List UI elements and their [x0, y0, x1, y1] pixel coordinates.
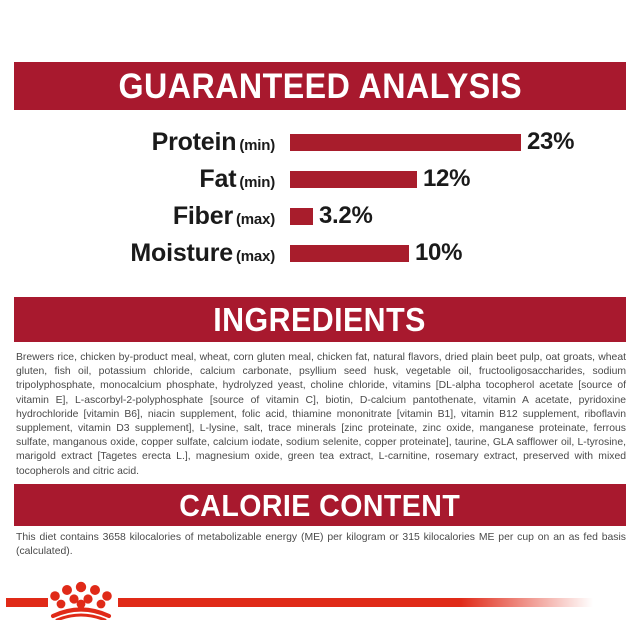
- analysis-row-moisture: Moisture(max) 10%: [0, 235, 640, 271]
- footer-rule-right: [118, 598, 593, 607]
- analysis-nutrient-qualifier: (max): [236, 211, 275, 228]
- nutrition-label-page: GUARANTEED ANALYSIS Protein(min) 23% Fat…: [0, 0, 640, 640]
- analysis-nutrient-name: Protein: [152, 128, 237, 156]
- ingredients-heading: INGREDIENTS: [214, 303, 427, 336]
- analysis-row-protein: Protein(min) 23%: [0, 124, 640, 160]
- calorie-content-heading: CALORIE CONTENT: [179, 490, 460, 521]
- analysis-label-protein: Protein(min): [0, 128, 275, 157]
- ingredients-header: INGREDIENTS: [14, 297, 626, 342]
- ingredients-text: Brewers rice, chicken by-product meal, w…: [16, 351, 626, 479]
- analysis-nutrient-name: Fat: [199, 165, 236, 193]
- analysis-value-moisture: 10%: [415, 239, 462, 267]
- analysis-bar-protein: [290, 134, 521, 151]
- analysis-label-fiber: Fiber(max): [0, 202, 275, 231]
- analysis-value-fiber: 3.2%: [319, 202, 373, 230]
- analysis-label-moisture: Moisture(max): [0, 239, 275, 268]
- analysis-nutrient-name: Moisture: [130, 239, 233, 267]
- analysis-row-fat: Fat(min) 12%: [0, 161, 640, 197]
- analysis-nutrient-qualifier: (min): [239, 174, 275, 191]
- royal-canin-crown-icon: [48, 580, 114, 620]
- analysis-label-fat: Fat(min): [0, 165, 275, 194]
- analysis-bar-fat: [290, 171, 417, 188]
- footer-brand-bar: [0, 580, 640, 640]
- footer-rule-left: [6, 598, 48, 607]
- analysis-value-protein: 23%: [527, 128, 574, 156]
- calorie-content-text: This diet contains 3658 kilocalories of …: [16, 531, 626, 559]
- guaranteed-analysis-heading: GUARANTEED ANALYSIS: [118, 69, 522, 104]
- calorie-content-header: CALORIE CONTENT: [14, 484, 626, 526]
- analysis-nutrient-name: Fiber: [173, 202, 233, 230]
- analysis-row-fiber: Fiber(max) 3.2%: [0, 198, 640, 234]
- guaranteed-analysis-chart: Protein(min) 23% Fat(min) 12% Fiber(max)…: [0, 124, 640, 274]
- analysis-nutrient-qualifier: (max): [236, 248, 275, 265]
- analysis-value-fat: 12%: [423, 165, 470, 193]
- analysis-nutrient-qualifier: (min): [239, 137, 275, 154]
- analysis-bar-fiber: [290, 208, 313, 225]
- analysis-bar-moisture: [290, 245, 409, 262]
- guaranteed-analysis-header: GUARANTEED ANALYSIS: [14, 62, 626, 110]
